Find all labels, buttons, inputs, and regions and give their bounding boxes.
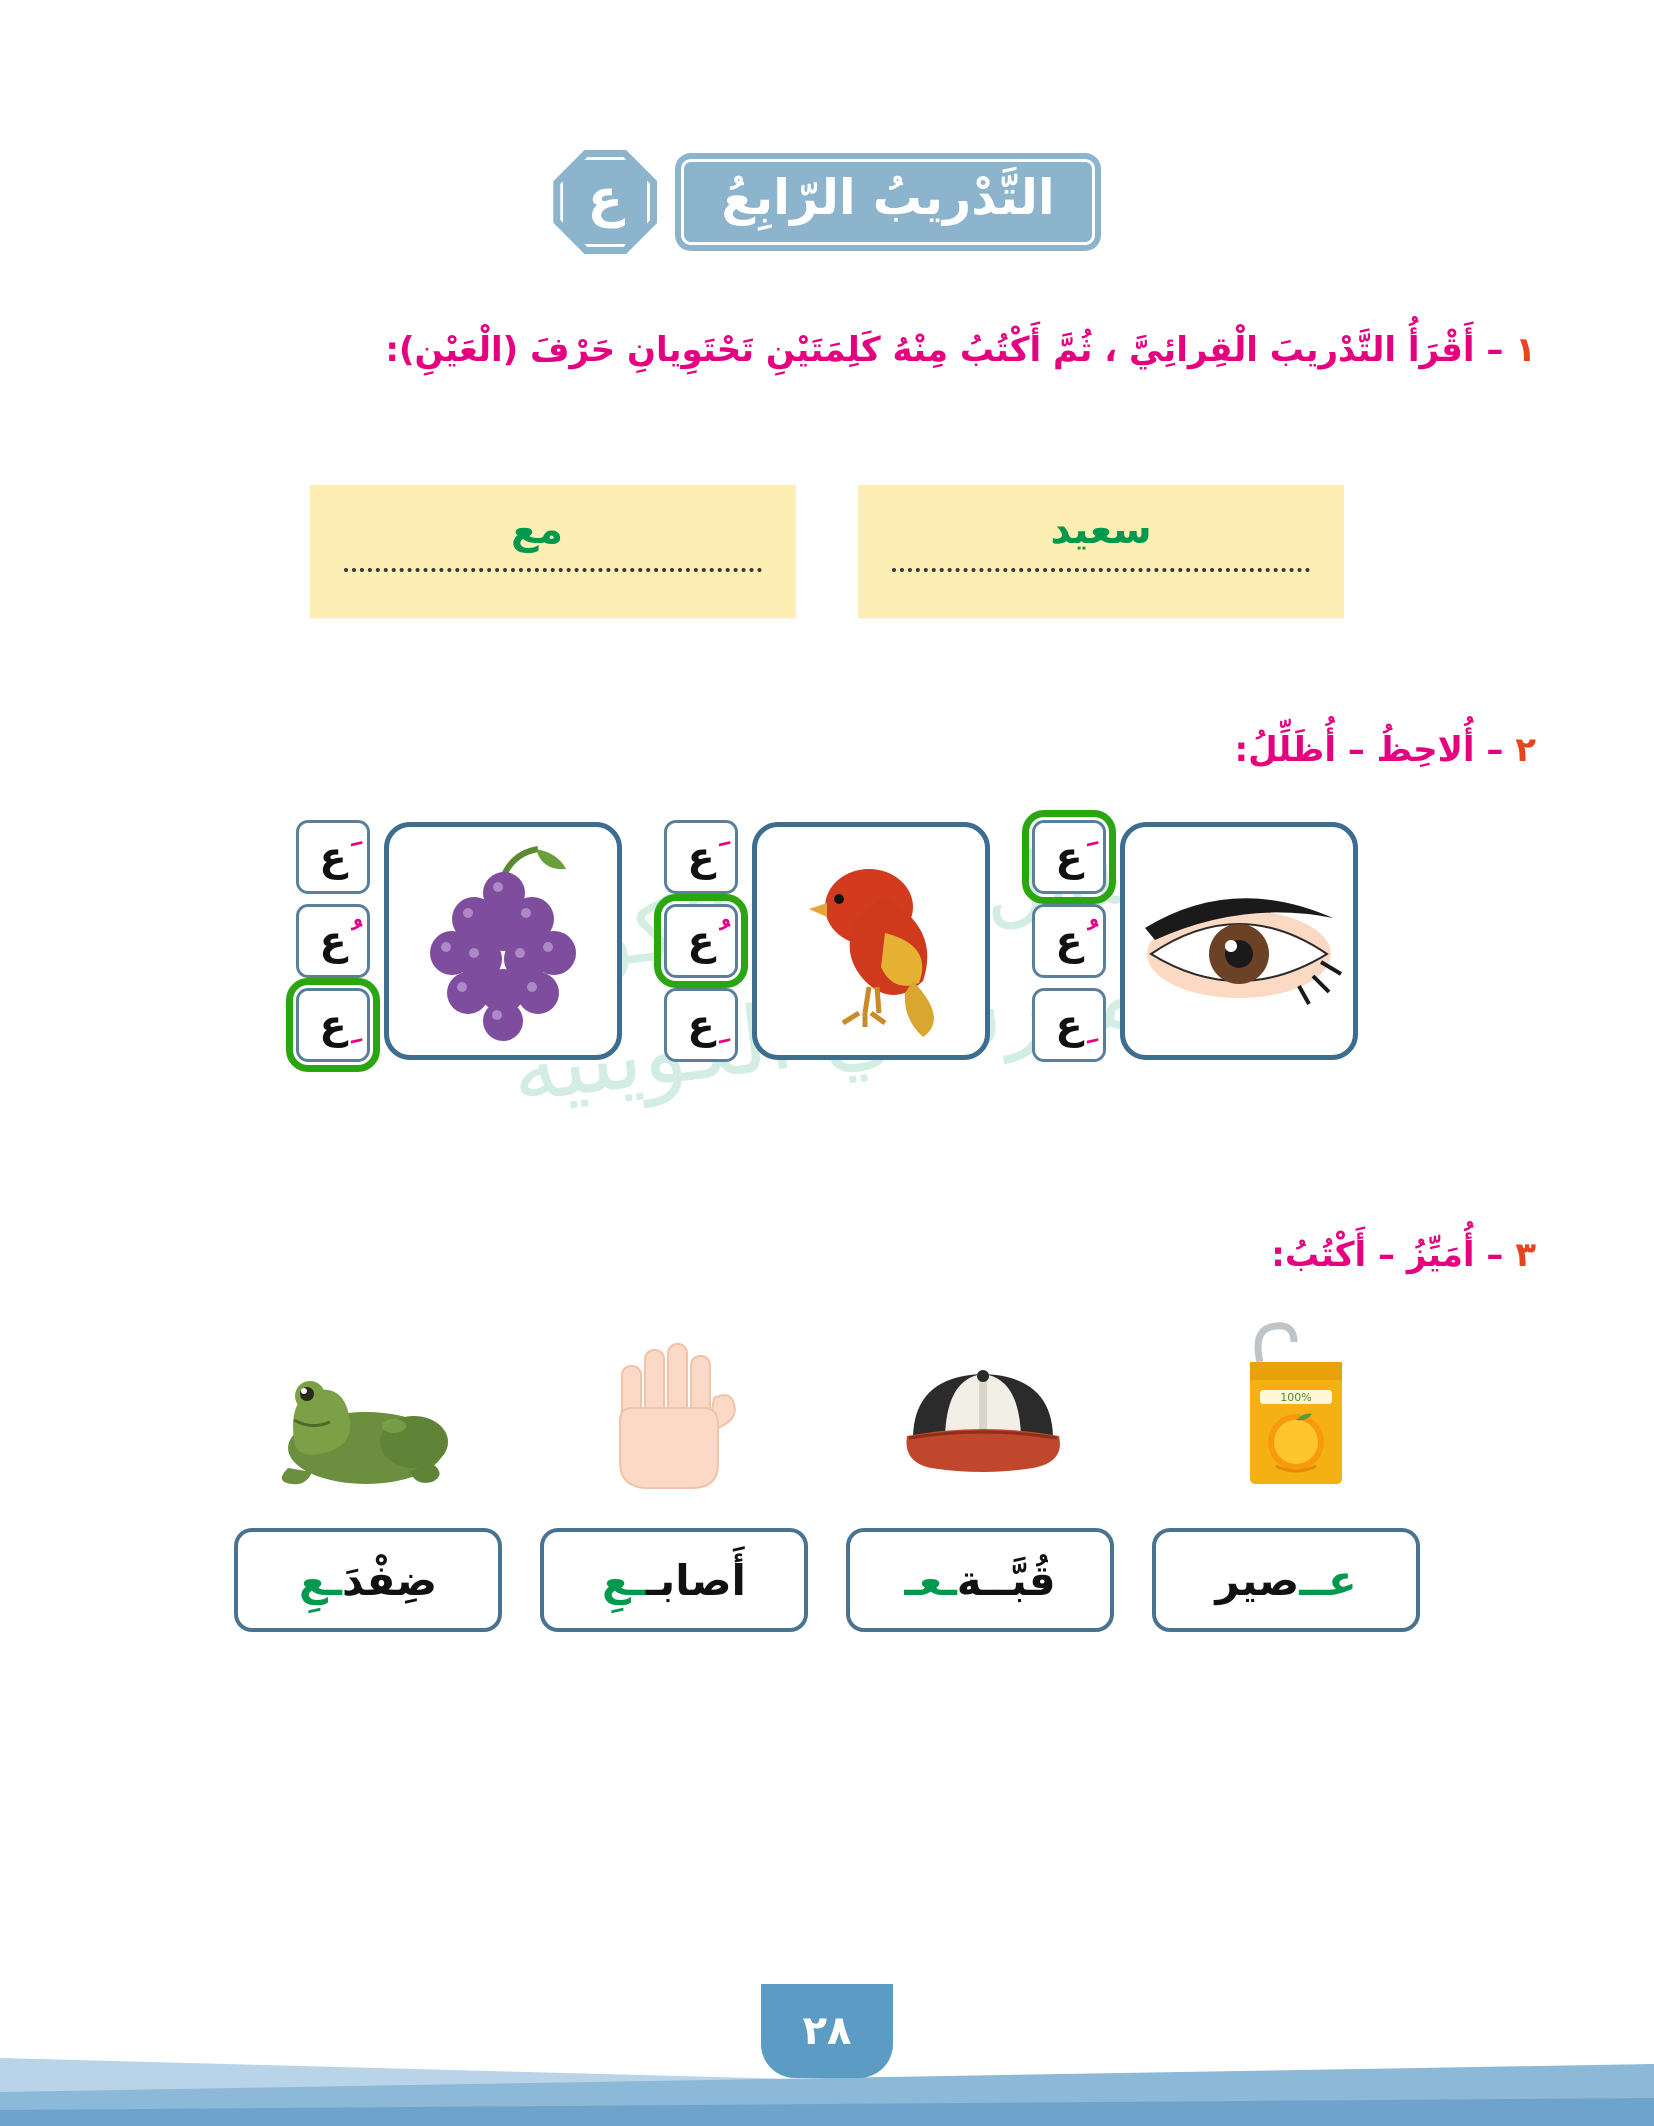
word-hand-highlight: ـعِ	[602, 1556, 645, 1605]
word-frog-highlight: ـعِ	[299, 1556, 342, 1605]
word-box-frog[interactable]: ضِفْدَـعِ	[234, 1528, 502, 1632]
bird-image	[752, 822, 990, 1060]
question-2-group-eye: َع ُع ِع	[1032, 820, 1358, 1062]
svg-text:100%: 100%	[1280, 1391, 1311, 1404]
juice-box-icon: 100%	[1220, 1320, 1370, 1492]
answer-note-right-value: سعيد	[858, 507, 1344, 553]
question-2-groups: َع ُع ِع َع ُع ِع	[0, 820, 1654, 1062]
page-footer: ٢٨	[0, 1951, 1654, 2126]
word-cap-highlight: ـعـ	[904, 1556, 956, 1605]
letter-badge: ع	[553, 150, 657, 254]
question-1-instruction: ١ – أَقْرَأُ التَّدْريبَ الْقِرائِيَّ ، …	[385, 330, 1536, 370]
grapes-icon	[408, 841, 598, 1041]
word-cap-rest: قُبَّــة	[957, 1556, 1056, 1605]
question-2-number: ٢	[1515, 730, 1536, 770]
question-2-text: – أُلاحِظُ – أُظَلِّلُ:	[1234, 730, 1503, 770]
option-grapes-fatha[interactable]: َع	[296, 820, 370, 894]
question-2-options-grapes: َع ُع ِع	[296, 820, 370, 1062]
question-1-text: – أَقْرَأُ التَّدْريبَ الْقِرائِيَّ ، ثُ…	[385, 330, 1503, 370]
option-eye-fatha[interactable]: َع	[1032, 820, 1106, 894]
answer-note-right[interactable]: سعيد	[858, 485, 1344, 618]
question-1-number: ١	[1515, 330, 1536, 370]
answer-note-right-line	[892, 568, 1310, 572]
question-2-options-eye: َع ُع ِع	[1032, 820, 1106, 1062]
question-3-text: – أُمَيِّزُ – أَكْتُبُ:	[1271, 1235, 1503, 1275]
page-number: ٢٨	[803, 2008, 852, 2054]
option-eye-damma[interactable]: ُع	[1032, 904, 1106, 978]
exercise-title-banner: التَّدْريبُ الرّابِعُ	[675, 153, 1100, 250]
word-hand-rest: أَصابـ	[645, 1556, 746, 1605]
answer-note-left-value: مع	[294, 507, 780, 553]
question-2-group-grapes: َع ُع ِع	[296, 820, 622, 1062]
word-juice-rest: صير	[1215, 1556, 1299, 1605]
question-3-word-boxes: عــصير قُبَّــةـعـ أَصابــعِ ضِفْدَـعِ	[0, 1528, 1654, 1632]
question-2-group-bird: َع ُع ِع	[664, 820, 990, 1062]
option-bird-fatha[interactable]: َع	[664, 820, 738, 894]
option-grapes-kasra[interactable]: ِع	[296, 988, 370, 1062]
page-number-badge: ٢٨	[761, 1984, 893, 2078]
word-frog-rest: ضِفْدَ	[342, 1556, 437, 1605]
word-box-hand[interactable]: أَصابــعِ	[540, 1528, 808, 1632]
question-3-pictures: 100%	[0, 1320, 1654, 1492]
option-eye-kasra[interactable]: ِع	[1032, 988, 1106, 1062]
hand-icon	[596, 1324, 746, 1492]
answer-note-left[interactable]: مع	[310, 485, 796, 618]
word-box-cap[interactable]: قُبَّــةـعـ	[846, 1528, 1114, 1632]
word-box-juice[interactable]: عــصير	[1152, 1528, 1420, 1632]
cap-image	[870, 1320, 1096, 1492]
eye-image	[1120, 822, 1358, 1060]
juice-box-image: 100%	[1182, 1320, 1408, 1492]
question-3-number: ٣	[1515, 1235, 1536, 1275]
page-header: التَّدْريبُ الرّابِعُ ع	[0, 150, 1654, 254]
option-bird-kasra[interactable]: ِع	[664, 988, 738, 1062]
question-1-answer-notes: سعيد مع	[0, 485, 1654, 618]
bird-icon	[773, 841, 969, 1041]
option-grapes-damma[interactable]: ُع	[296, 904, 370, 978]
letter-badge-label: ع	[588, 169, 624, 235]
word-juice-highlight: عــ	[1299, 1556, 1356, 1605]
option-bird-damma[interactable]: ُع	[664, 904, 738, 978]
hand-image	[558, 1320, 784, 1492]
cap-icon	[883, 1352, 1083, 1492]
question-2-options-bird: َع ُع ِع	[664, 820, 738, 1062]
eye-icon	[1133, 866, 1345, 1016]
question-3-instruction: ٣ – أُمَيِّزُ – أَكْتُبُ:	[1271, 1235, 1536, 1275]
answer-note-left-line	[344, 568, 762, 572]
frog-image	[246, 1320, 472, 1492]
question-2-instruction: ٢ – أُلاحِظُ – أُظَلِّلُ:	[1234, 730, 1536, 770]
frog-icon	[254, 1356, 464, 1492]
grapes-image	[384, 822, 622, 1060]
